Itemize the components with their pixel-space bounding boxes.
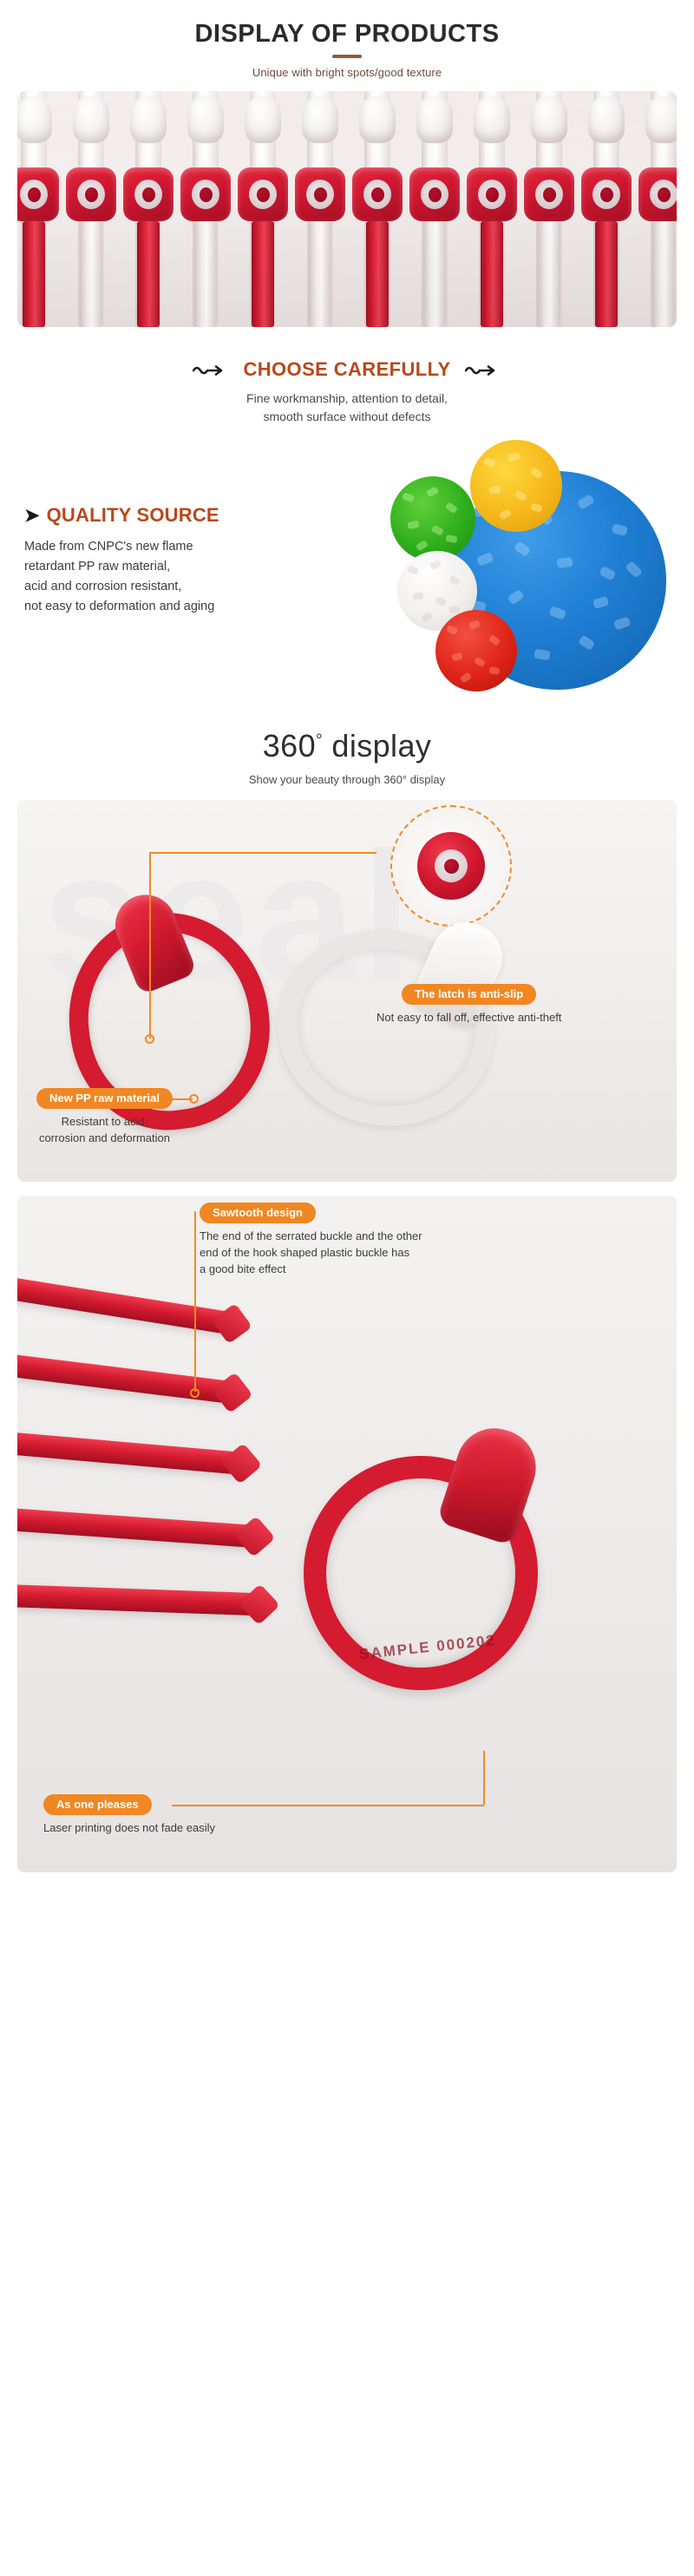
seal-strap xyxy=(17,1428,244,1475)
squiggle-arrow-icon-right xyxy=(465,364,501,376)
choose-subtitle-line-2: smooth surface without defects xyxy=(0,408,694,426)
latch-badge: The latch is anti-slip xyxy=(402,984,536,1005)
granule-texture-icon xyxy=(470,440,562,532)
latch-leader-line-horizontal xyxy=(149,852,376,854)
sawtooth-badge: Sawtooth design xyxy=(200,1203,316,1223)
display-360-subtitle: Show your beauty through 360° display xyxy=(0,773,694,786)
pp-caption-line-1: Resistant to acid, xyxy=(36,1113,173,1130)
sawtooth-caption-line-1: The end of the serrated buckle and the o… xyxy=(200,1228,494,1244)
sawtooth-caption-line-3: a good bite effect xyxy=(200,1261,494,1277)
sawtooth-leader-line xyxy=(194,1211,196,1392)
quality-body-line-3: acid and corrosion resistant, xyxy=(24,577,311,597)
callout-new-pp-material: New PP raw material Resistant to acid, c… xyxy=(36,1088,173,1146)
sawtooth-caption-line-2: end of the hook shaped plastic buckle ha… xyxy=(200,1244,494,1261)
seal-strap xyxy=(17,1273,234,1334)
product-detail-photo: SAMPLE 000202 Sawtooth design The end of… xyxy=(17,1196,677,1872)
pp-caption-line-2: corrosion and deformation xyxy=(36,1130,173,1146)
quality-title-row: ➤ QUALITY SOURCE xyxy=(24,504,311,527)
strap-tip-icon xyxy=(239,1583,280,1625)
green-pellet-blob xyxy=(390,476,475,561)
seal-row-graphic xyxy=(17,91,677,327)
degree-symbol-icon: ° xyxy=(316,731,323,750)
quality-source-body: Made from CNPC's new flame retardant PP … xyxy=(24,537,311,617)
seal-strap xyxy=(17,1583,260,1616)
callout-as-one-pleases: As one pleases Laser printing does not f… xyxy=(43,1794,215,1836)
quality-body-line-1: Made from CNPC's new flame xyxy=(24,537,311,557)
quality-body-line-2: retardant PP raw material, xyxy=(24,557,311,577)
latch-leader-line xyxy=(149,852,151,1039)
choose-title-row: CHOOSE CAREFULLY xyxy=(0,358,694,381)
squiggle-arrow-icon-left xyxy=(193,364,229,376)
latch-anchor-dot xyxy=(145,1034,154,1044)
latch-caption: Not easy to fall off, effective anti-the… xyxy=(376,1009,561,1026)
pp-anchor-dot xyxy=(189,1094,199,1104)
display-products-header: DISPLAY OF PRODUCTS Unique with bright s… xyxy=(0,0,694,79)
yellow-pellet-blob xyxy=(470,440,562,532)
granule-texture-icon xyxy=(390,476,475,561)
seal-cap-graphic xyxy=(417,832,485,900)
page-subtitle: Unique with bright spots/good texture xyxy=(0,66,694,79)
quality-body-line-4: not easy to deformation and aging xyxy=(24,597,311,617)
callout-latch-anti-slip: The latch is anti-slip Not easy to fall … xyxy=(376,984,561,1026)
display-360-section: 360° display Show your beauty through 36… xyxy=(0,705,694,1182)
laser-leader-line-vertical xyxy=(483,1751,485,1805)
pp-caption: Resistant to acid, corrosion and deforma… xyxy=(36,1113,173,1146)
choose-subtitle-line-1: Fine workmanship, attention to detail, xyxy=(0,390,694,408)
display-360-number: 360 xyxy=(263,728,316,764)
sawtooth-caption: The end of the serrated buckle and the o… xyxy=(200,1228,494,1277)
quality-source-section: ➤ QUALITY SOURCE Made from CNPC's new fl… xyxy=(0,445,694,705)
quality-source-title: QUALITY SOURCE xyxy=(47,504,219,527)
laser-leader-line-horizontal xyxy=(172,1805,484,1806)
product-photo-seal-row xyxy=(17,91,677,327)
choose-carefully-title: CHOOSE CAREFULLY xyxy=(243,358,450,381)
chevron-right-icon: ➤ xyxy=(24,507,40,525)
callout-sawtooth-design: Sawtooth design The end of the serrated … xyxy=(200,1203,494,1277)
plastic-pellet-illustration xyxy=(309,440,682,700)
strap-tip-icon xyxy=(211,1303,252,1344)
strap-tip-icon xyxy=(220,1443,262,1485)
laser-badge: As one pleases xyxy=(43,1794,152,1815)
seal-strap xyxy=(17,1350,234,1404)
choose-carefully-section: CHOOSE CAREFULLY Fine workmanship, atten… xyxy=(0,327,694,426)
pp-material-badge: New PP raw material xyxy=(36,1088,173,1109)
quality-source-text-block: ➤ QUALITY SOURCE Made from CNPC's new fl… xyxy=(24,504,311,617)
seal-hole-graphic xyxy=(444,859,459,874)
product-360-photo: seal The latch is anti-slip Not easy to … xyxy=(17,800,677,1182)
seal-strap xyxy=(17,1504,256,1548)
latch-detail-zoom-circle xyxy=(390,805,512,927)
display-360-word: display xyxy=(323,728,431,764)
title-underline-accent xyxy=(332,55,362,58)
sawtooth-anchor-dot xyxy=(190,1388,200,1398)
page-title: DISPLAY OF PRODUCTS xyxy=(0,19,694,49)
strap-tip-icon xyxy=(234,1516,276,1557)
sawtooth-section: SAMPLE 000202 Sawtooth design The end of… xyxy=(0,1196,694,1872)
display-360-title: 360° display xyxy=(0,728,694,764)
granule-texture-icon xyxy=(435,610,517,692)
laser-caption: Laser printing does not fade easily xyxy=(43,1819,215,1836)
red-pellet-blob xyxy=(435,610,517,692)
choose-subtitle: Fine workmanship, attention to detail, s… xyxy=(0,390,694,426)
strap-tip-icon xyxy=(212,1372,253,1413)
red-seal-large-head xyxy=(436,1419,546,1546)
seal-ring-graphic xyxy=(435,849,468,882)
